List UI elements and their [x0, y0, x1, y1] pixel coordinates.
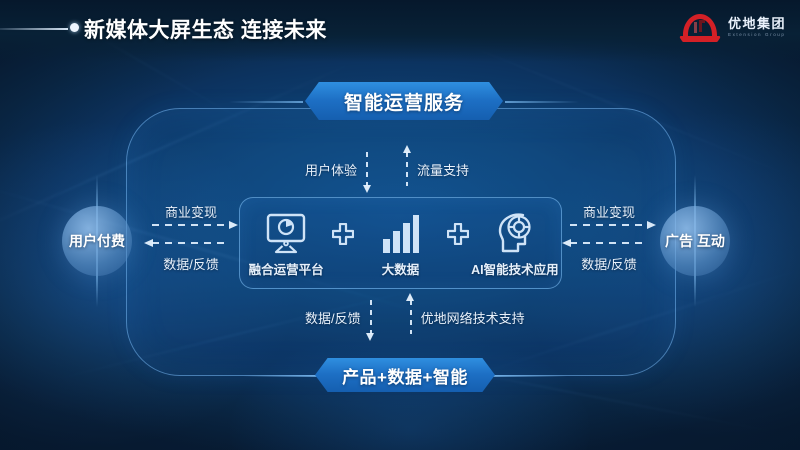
brand-logo-text: 优地集团 Extension Group: [728, 17, 786, 38]
arrow-up-icon: [410, 300, 412, 334]
banner-wing-left-icon: [229, 101, 303, 103]
flow-left-in-label: 数据/反馈: [163, 254, 219, 273]
flow-bottom-right-label: 优地网络技术支持: [421, 308, 525, 327]
flow-top-left-label: 用户体验: [305, 160, 357, 179]
core-capability-panel: 融合运营平台 大数据: [239, 197, 562, 289]
banner-wing-left-icon: [243, 375, 317, 377]
arrow-left-icon: [152, 242, 230, 244]
bullet-dot-icon: [70, 23, 79, 32]
plus-icon: [447, 211, 469, 257]
arrow-left-icon: [570, 242, 648, 244]
flow-right-out-label: 商业变现: [583, 202, 635, 221]
arrow-down-icon: [370, 300, 372, 334]
flow-top-right-label: 流量支持: [417, 160, 469, 179]
banner-bottom[interactable]: 产品+数据+智能: [315, 358, 495, 392]
bar-chart-icon: [380, 208, 420, 254]
youdi-helmet-logo-icon: [679, 10, 721, 44]
core-cell-ai[interactable]: AI智能技术应用: [469, 208, 561, 278]
node-ad-interaction[interactable]: 广告 互动: [660, 206, 730, 276]
brand-name-cn: 优地集团: [728, 17, 786, 30]
node-user-payment-label: 用户付费: [69, 231, 125, 251]
banner-wing-right-icon: [493, 375, 567, 377]
flow-right-in-label: 数据/反馈: [581, 254, 637, 273]
core-cell-platform[interactable]: 融合运营平台: [240, 208, 332, 278]
plus-icon: [332, 211, 354, 257]
banner-top[interactable]: 智能运营服务: [305, 82, 503, 120]
core-cell-bigdata[interactable]: 大数据: [354, 208, 446, 278]
flow-bottom-left-label: 数据/反馈: [305, 308, 361, 327]
arrow-up-icon: [406, 152, 408, 186]
horizontal-rule-icon: [0, 28, 68, 30]
flow-left-out-label: 商业变现: [165, 202, 217, 221]
page-header: 新媒体大屏生态 连接未来 优地集团 Extension Group: [0, 0, 800, 55]
flow-bottom: 数据/反馈 优地网络技术支持: [305, 300, 525, 334]
arrow-right-icon: [152, 224, 230, 226]
monitor-pie-chart-icon: [264, 208, 308, 254]
core-cell-bigdata-label: 大数据: [382, 259, 420, 278]
core-cell-ai-label: AI智能技术应用: [471, 259, 559, 278]
ai-head-icon: [493, 208, 537, 254]
core-cell-platform-label: 融合运营平台: [249, 259, 324, 278]
node-user-payment[interactable]: 用户付费: [62, 206, 132, 276]
banner-bottom-label: 产品+数据+智能: [342, 363, 468, 388]
banner-top-label: 智能运营服务: [344, 88, 464, 115]
page-title: 新媒体大屏生态 连接未来: [84, 14, 327, 44]
arrow-right-icon: [570, 224, 648, 226]
node-ad-interaction-label: 广告 互动: [665, 231, 725, 251]
core-cells: 融合运营平台 大数据: [240, 198, 561, 288]
brand-logo: 优地集团 Extension Group: [679, 8, 786, 46]
banner-wing-right-icon: [505, 101, 579, 103]
slide-canvas: 新媒体大屏生态 连接未来 优地集团 Extension Group 智能运营服务: [0, 0, 800, 450]
brand-name-en: Extension Group: [728, 33, 786, 38]
flow-top: 用户体验 流量支持: [305, 152, 469, 186]
arrow-down-icon: [366, 152, 368, 186]
